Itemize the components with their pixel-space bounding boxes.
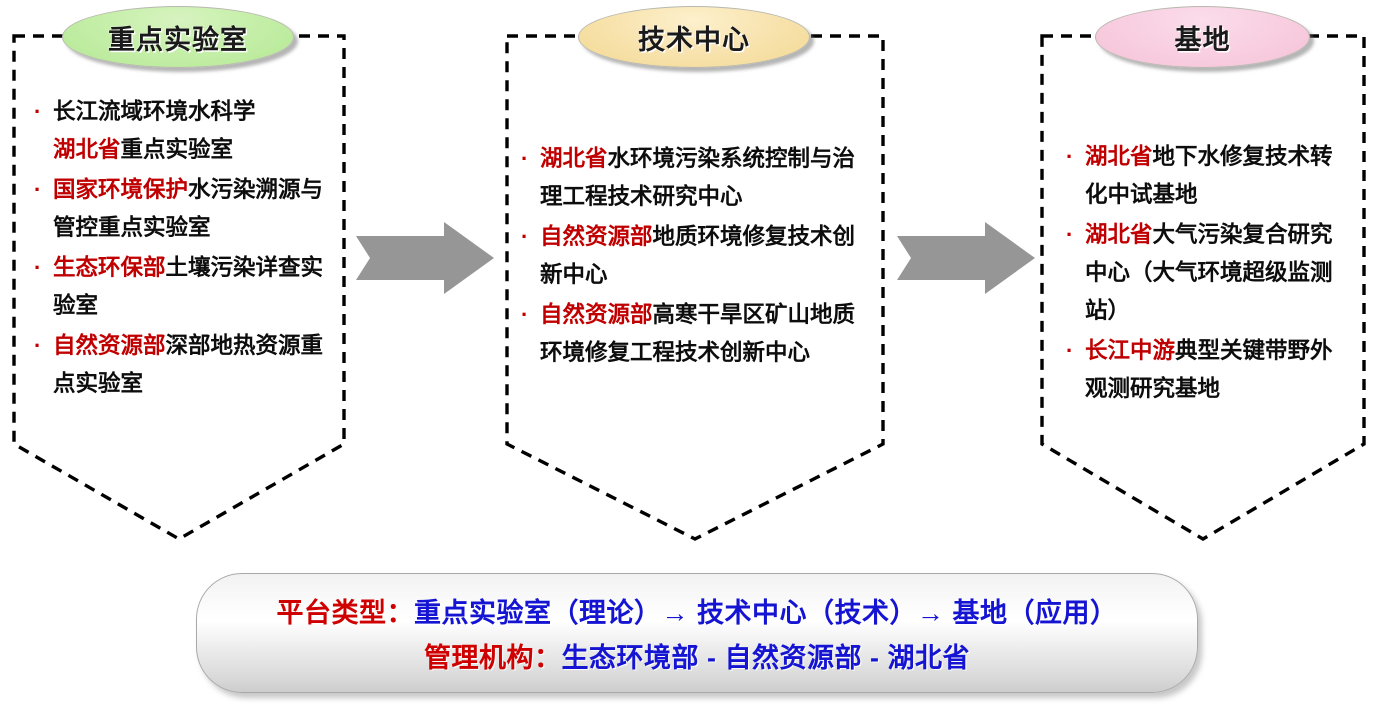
- bullet-dot-icon: ·: [1066, 332, 1085, 370]
- bullet-list-key-laboratory: · 长江流域环境水科学湖北省重点实验室 · 国家环境保护水污染溯源与管控重点实验…: [34, 93, 324, 405]
- header-ellipse-base: 基地: [1095, 6, 1310, 68]
- list-item-text: 国家环境保护水污染溯源与管控重点实验室: [53, 171, 324, 247]
- header-ellipse-key-laboratory: 重点实验室: [62, 6, 294, 68]
- header-label-base: 基地: [1175, 18, 1231, 57]
- list-item: · 湖北省大气污染复合研究中心（大气环境超级监测站）: [1066, 216, 1352, 330]
- bullet-dot-icon: ·: [521, 140, 540, 178]
- summary-value-managing-agency: 生态环境部 - 自然资源部 - 湖北省: [562, 643, 971, 673]
- bullet-dot-icon: ·: [34, 171, 53, 209]
- summary-panel: 平台类型：重点实验室（理论）→ 技术中心（技术）→ 基地（应用） 管理机构：生态…: [196, 573, 1198, 693]
- list-item-text: 湖北省地下水修复技术转化中试基地: [1085, 138, 1352, 214]
- bullet-dot-icon: ·: [34, 249, 53, 287]
- summary-label-managing-agency: 管理机构：: [424, 643, 562, 673]
- list-item-text: 长江流域环境水科学湖北省重点实验室: [53, 93, 324, 169]
- arrow-lab-to-center: [356, 222, 494, 294]
- list-item-text: 湖北省大气污染复合研究中心（大气环境超级监测站）: [1085, 216, 1352, 330]
- list-item-text: 自然资源部深部地热资源重点实验室: [53, 327, 324, 403]
- list-item: · 自然资源部地质环境修复技术创新中心: [521, 218, 873, 294]
- bullet-list-base: · 湖北省地下水修复技术转化中试基地 · 湖北省大气污染复合研究中心（大气环境超…: [1066, 138, 1352, 410]
- arrow-center-to-base: [897, 222, 1035, 294]
- list-item: · 湖北省水环境污染系统控制与治理工程技术研究中心: [521, 140, 873, 216]
- list-item: · 自然资源部深部地热资源重点实验室: [34, 327, 324, 403]
- list-item-text: 湖北省水环境污染系统控制与治理工程技术研究中心: [540, 140, 873, 216]
- bullet-dot-icon: ·: [1066, 138, 1085, 176]
- header-label-key-laboratory: 重点实验室: [108, 18, 248, 57]
- bullet-list-technology-center: · 湖北省水环境污染系统控制与治理工程技术研究中心 · 自然资源部地质环境修复技…: [521, 140, 873, 374]
- summary-line-platform-type: 平台类型：重点实验室（理论）→ 技术中心（技术）→ 基地（应用）: [276, 591, 1117, 630]
- list-item-text: 长江中游典型关键带野外观测研究基地: [1085, 332, 1352, 408]
- bullet-dot-icon: ·: [1066, 216, 1085, 254]
- bullet-dot-icon: ·: [34, 327, 53, 365]
- list-item: · 长江流域环境水科学湖北省重点实验室: [34, 93, 324, 169]
- list-item-text: 生态环保部土壤污染详查实验室: [53, 249, 324, 325]
- list-item: · 生态环保部土壤污染详查实验室: [34, 249, 324, 325]
- list-item: · 长江中游典型关键带野外观测研究基地: [1066, 332, 1352, 408]
- list-item: · 国家环境保护水污染溯源与管控重点实验室: [34, 171, 324, 247]
- header-label-technology-center: 技术中心: [638, 18, 750, 57]
- summary-label-platform-type: 平台类型：: [276, 598, 414, 628]
- summary-value-platform-type: 重点实验室（理论）→ 技术中心（技术）→ 基地（应用）: [414, 598, 1118, 628]
- header-ellipse-technology-center: 技术中心: [578, 6, 810, 68]
- list-item: · 自然资源部高寒干旱区矿山地质环境修复工程技术创新中心: [521, 296, 873, 372]
- list-item-text: 自然资源部高寒干旱区矿山地质环境修复工程技术创新中心: [540, 296, 873, 372]
- bullet-dot-icon: ·: [34, 93, 53, 131]
- bullet-dot-icon: ·: [521, 218, 540, 256]
- list-item: · 湖北省地下水修复技术转化中试基地: [1066, 138, 1352, 214]
- diagram-canvas: 重点实验室 · 长江流域环境水科学湖北省重点实验室 · 国家环境保护水污染溯源与…: [0, 0, 1377, 709]
- list-item-text: 自然资源部地质环境修复技术创新中心: [540, 218, 873, 294]
- summary-line-managing-agency: 管理机构：生态环境部 - 自然资源部 - 湖北省: [424, 636, 970, 675]
- bullet-dot-icon: ·: [521, 296, 540, 334]
